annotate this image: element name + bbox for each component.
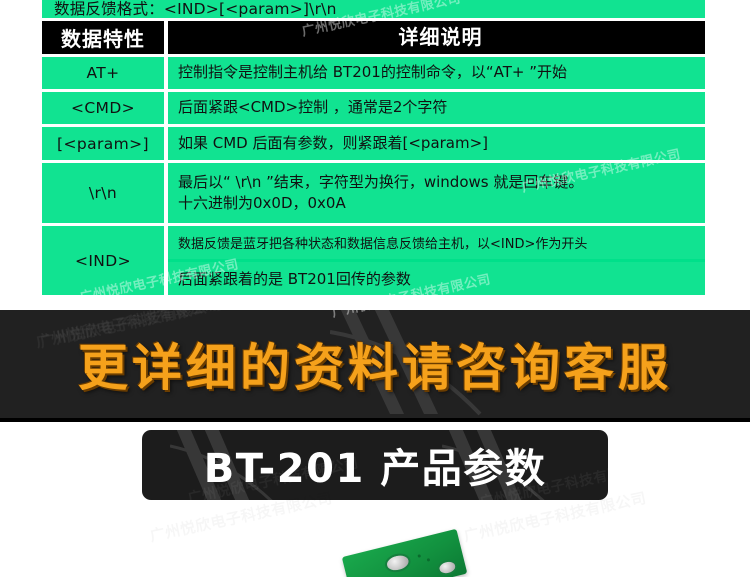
table-header-description: 详细说明	[168, 21, 705, 54]
table-row: <CMD> 后面紧跟<CMD>控制 ，通常是2个字符	[42, 92, 705, 124]
row-description-line: 如果 CMD 后面有参数，则紧跟着[<param>]	[178, 133, 699, 154]
cta-banner: 更详细的资料请咨询客服 广州悦欣电子科技有限公司	[0, 310, 750, 418]
table-header-row: 数据特性 详细说明	[42, 21, 705, 54]
data-feedback-format-strip: 数据反馈格式：<IND>[<param>]\r\n	[42, 0, 705, 18]
row-feature-label: <IND>	[42, 226, 164, 295]
table-row: [<param>] 如果 CMD 后面有参数，则紧跟着[<param>]	[42, 127, 705, 160]
row-feature-label: [<param>]	[42, 127, 164, 160]
row-feature-label: AT+	[42, 57, 164, 89]
row-description-line: 最后以“ \r\n ”结束，字符型为换行，windows 就是回车键。	[178, 172, 699, 193]
row-description-line: 十六进制为0x0D，0x0A	[178, 193, 699, 214]
row-feature-label: <CMD>	[42, 92, 164, 124]
pcb-via-dot	[417, 554, 421, 558]
row-description-subrow: 后面紧跟着的是 BT201回传的参数	[168, 262, 705, 295]
section-divider-rule	[0, 418, 750, 422]
row-description: 后面紧跟<CMD>控制 ，通常是2个字符	[168, 92, 705, 124]
product-photo-pcb	[340, 543, 470, 577]
spec-table: 数据反馈格式：<IND>[<param>]\r\n 数据特性 详细说明 AT+ …	[42, 0, 705, 298]
cta-headline: 更详细的资料请咨询客服	[0, 328, 750, 400]
pcb-solder-pad	[383, 551, 413, 575]
row-description-group: 数据反馈是蓝牙把各种状态和数据信息反馈给主机，以<IND>作为开头 后面紧跟着的…	[168, 226, 705, 295]
row-description-subrow: 数据反馈是蓝牙把各种状态和数据信息反馈给主机，以<IND>作为开头	[168, 226, 705, 259]
pcb-board	[342, 529, 468, 577]
row-description: 最后以“ \r\n ”结束，字符型为换行，windows 就是回车键。 十六进制…	[168, 163, 705, 223]
section-title-banner: BT-201 产品参数 广州悦欣电子科技有限公司 广州悦欣电子科技有限公司	[142, 430, 608, 500]
table-row: \r\n 最后以“ \r\n ”结束，字符型为换行，windows 就是回车键。…	[42, 163, 705, 223]
table-header-feature: 数据特性	[42, 21, 164, 54]
section-title: BT-201 产品参数	[142, 436, 608, 494]
table-row: AT+ 控制指令是控制主机给 BT201的控制命令，以“AT+ ”开始	[42, 57, 705, 89]
row-description-line: 控制指令是控制主机给 BT201的控制命令，以“AT+ ”开始	[178, 62, 699, 83]
row-feature-label: \r\n	[42, 163, 164, 223]
table-row: <IND> 数据反馈是蓝牙把各种状态和数据信息反馈给主机，以<IND>作为开头 …	[42, 226, 705, 295]
row-description-line: 后面紧跟<CMD>控制 ，通常是2个字符	[178, 97, 699, 118]
product-detail-page: 数据反馈格式：<IND>[<param>]\r\n 数据特性 详细说明 AT+ …	[0, 0, 750, 577]
row-description: 控制指令是控制主机给 BT201的控制命令，以“AT+ ”开始	[168, 57, 705, 89]
pcb-solder-pad	[436, 558, 459, 577]
row-description: 如果 CMD 后面有参数，则紧跟着[<param>]	[168, 127, 705, 160]
pcb-via-dot	[427, 558, 431, 562]
